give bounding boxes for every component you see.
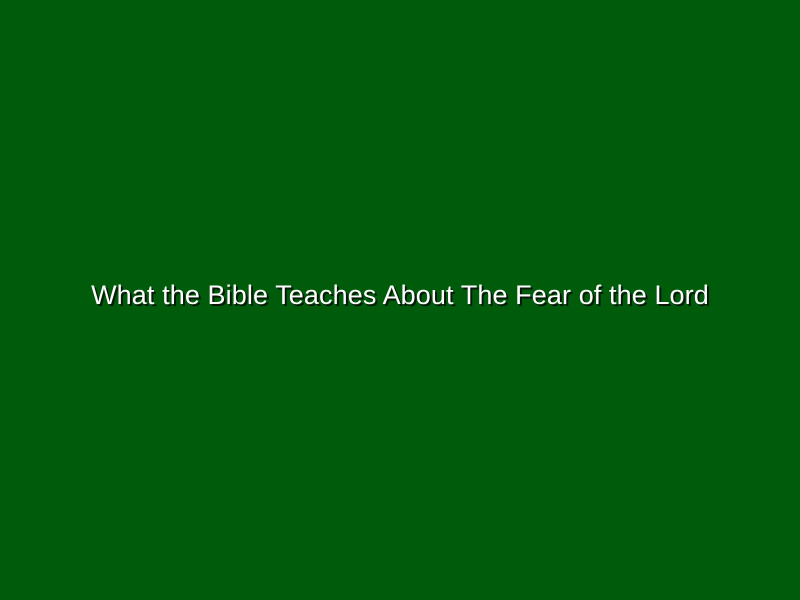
title-text-block: What the Bible Teaches About The Fear of… (55, 276, 745, 314)
page-title: What the Bible Teaches About The Fear of… (55, 276, 745, 314)
title-card: What the Bible Teaches About The Fear of… (0, 0, 800, 600)
